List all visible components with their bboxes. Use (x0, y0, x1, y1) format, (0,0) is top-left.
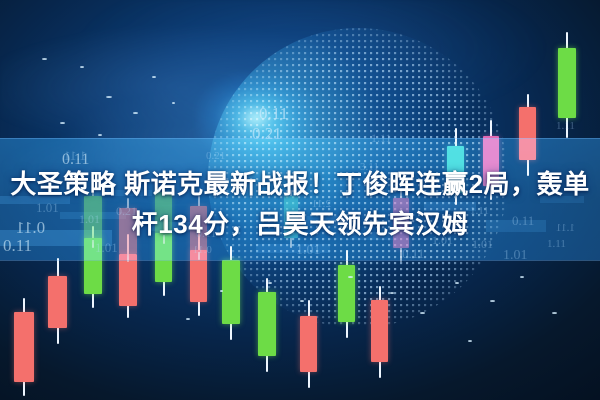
light-speck (552, 312, 557, 314)
light-speck (42, 58, 47, 60)
light-speck (60, 122, 65, 124)
light-speck (152, 76, 156, 78)
light-speck (98, 134, 102, 136)
light-speck (300, 300, 304, 302)
headline-line-1: 大圣策略 斯诺克最新战报！丁俊晖连赢2局，轰单 (0, 164, 600, 204)
light-speck (468, 340, 472, 342)
light-speck (172, 102, 175, 104)
light-speck (80, 66, 84, 68)
light-speck (186, 318, 190, 320)
light-speck (106, 96, 112, 98)
band-bottom-edge (0, 260, 600, 261)
light-speck (268, 282, 272, 284)
light-speck (455, 282, 459, 284)
headline-line-2: 杆134分，吕昊天领先宾汉姆 (0, 204, 600, 244)
light-speck (490, 300, 495, 302)
banner-image: 0.110.211.111.110.111.011.010.210.110.11… (0, 0, 600, 400)
light-speck (390, 292, 394, 294)
light-speck (133, 112, 138, 114)
light-speck (520, 276, 524, 278)
band-top-edge (0, 138, 600, 139)
light-speck (420, 312, 425, 314)
light-speck (220, 290, 223, 292)
light-speck (348, 276, 353, 278)
